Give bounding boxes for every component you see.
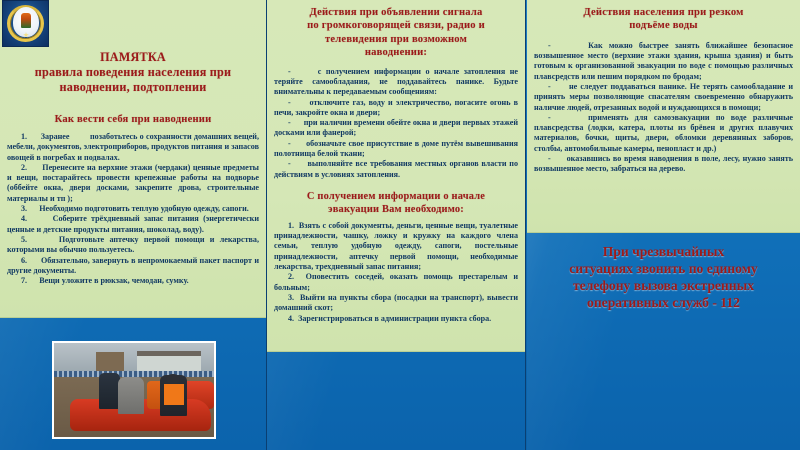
- list-item: - обозначьте свое присутствие в доме пут…: [274, 139, 518, 160]
- right-section-title: Действия населения при резком подъёме во…: [534, 6, 793, 33]
- emergency-line1: При чрезвычайных: [603, 244, 725, 259]
- list-item: - с получением информации о начале затоп…: [274, 67, 518, 98]
- right-title-line1: Действия населения при резком: [583, 7, 743, 18]
- list-item: 1. Заранее позаботьтесь о сохранности до…: [7, 132, 259, 163]
- list-item: 4. Зарегистрироваться в администрации пу…: [274, 314, 518, 324]
- middle-title-line2: по громкоговорящей связи, радио и: [307, 20, 485, 31]
- middle-content-card: Действия при объявлении сигнала по громк…: [267, 0, 525, 352]
- list-item: 3. Необходимо подготовить теплую удобную…: [7, 204, 259, 214]
- emergency-phone-callout: При чрезвычайных ситуациях звонить по ед…: [527, 243, 800, 311]
- list-item: - выполняйте все требования местных орга…: [274, 159, 518, 180]
- middle-title-line1: Действия при объявлении сигнала: [309, 7, 482, 18]
- right-content-card: Действия населения при резком подъёме во…: [527, 0, 800, 233]
- evac-title-line1: С получением информации о начале: [307, 191, 485, 202]
- middle-evacuation-title: С получением информации о начале эвакуац…: [274, 190, 518, 216]
- middle-title-line3: телевидения при возможном: [325, 34, 467, 45]
- list-item: 4. Соберите трёхдневный запас питания (э…: [7, 214, 259, 235]
- panel-right: Действия населения при резком подъёме во…: [527, 0, 800, 450]
- list-item: 6. Обязательно, завернуть в непромокаемы…: [7, 256, 259, 277]
- list-item: - отключите газ, воду и электричество, п…: [274, 98, 518, 119]
- list-item: 7. Вещи уложите в рюкзак, чемодан, сумку…: [7, 276, 259, 286]
- list-item: - оказавшись во время наводнения в поле,…: [534, 154, 793, 175]
- flood-safety-poster: ПАМЯТКА правила поведения населения при …: [0, 0, 800, 450]
- panel-left: ПАМЯТКА правила поведения населения при …: [0, 0, 266, 450]
- page-title: ПАМЯТКА правила поведения населения при …: [7, 50, 259, 95]
- list-item: 2. Оповестить соседей, оказать помощь пр…: [274, 272, 518, 293]
- page-title-line3: наводнении, подтоплении: [60, 80, 207, 94]
- emergency-line2: ситуациях звонить по единому: [569, 261, 757, 276]
- emblem-figure-shape: [21, 13, 31, 28]
- list-item: 1. Взять с собой документы, деньги, ценн…: [274, 221, 518, 272]
- evac-title-line2: эвакуации Вам необходимо:: [328, 204, 464, 215]
- emergency-line3: телефону вызова экстренных: [573, 278, 754, 293]
- list-item: - применять для самоэвакуации по воде ра…: [534, 113, 793, 154]
- photo-rescue-boat-art: [54, 343, 214, 437]
- list-item: 3. Выйти на пункты сбора (посадки на тра…: [274, 293, 518, 314]
- left-section-title: Как вести себя при наводнении: [7, 113, 259, 126]
- panel-middle: Действия при объявлении сигнала по громк…: [266, 0, 526, 450]
- list-item: - не следует поддаваться панике. Не теря…: [534, 82, 793, 113]
- middle-section-title: Действия при объявлении сигнала по громк…: [274, 6, 518, 60]
- photo-rescue-boat: [52, 341, 216, 439]
- left-content-card: ПАМЯТКА правила поведения населения при …: [0, 0, 266, 318]
- list-item: 5. Подготовьте аптечку первой помощи и л…: [7, 235, 259, 256]
- emergency-line4: оперативных служб - 112: [587, 295, 740, 310]
- right-title-line2: подъёме воды: [629, 20, 698, 31]
- list-item: - Как можно быстрее занять ближайшее без…: [534, 41, 793, 82]
- page-title-line2: правила поведения населения при: [35, 65, 231, 79]
- middle-title-line4: наводнении:: [365, 47, 427, 58]
- list-item: - при наличии времени обейте окна и двер…: [274, 118, 518, 139]
- emercom-emblem-icon: [2, 0, 49, 47]
- list-item: 2. Перенесите на верхние этажи (чердаки)…: [7, 163, 259, 204]
- page-title-line1: ПАМЯТКА: [100, 50, 166, 64]
